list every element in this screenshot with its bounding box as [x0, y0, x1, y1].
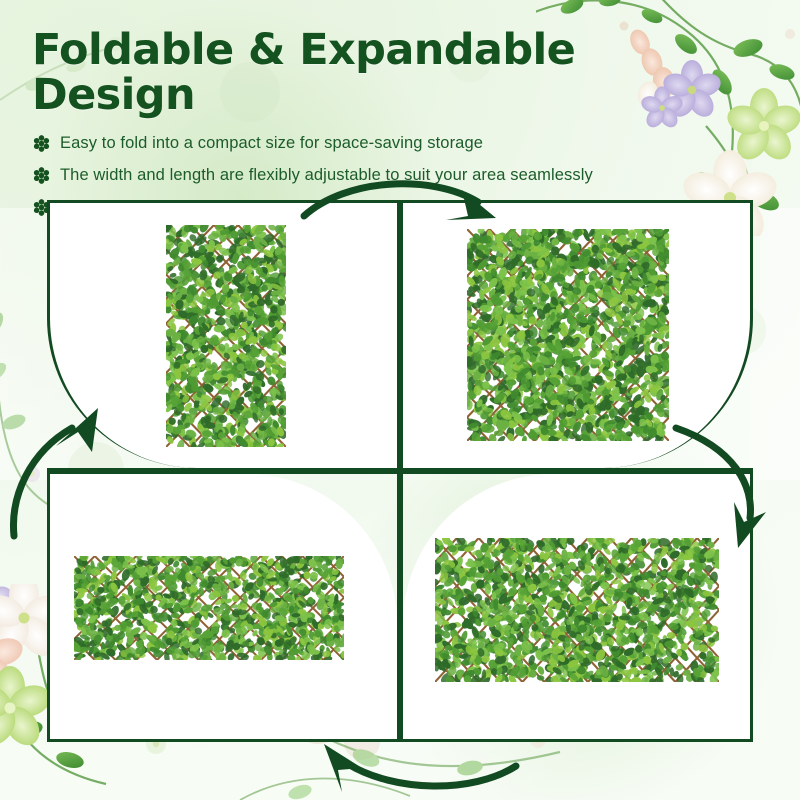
list-item-label: Easy to fold into a compact size for spa… [60, 134, 483, 153]
flower-dot-icon [32, 166, 51, 185]
product-image-square-panel [467, 229, 669, 441]
panel-bottom-left [47, 474, 397, 742]
panel-divider-horizontal [47, 468, 753, 474]
infographic-canvas: Foldable & Expandable Design Easy to fol… [0, 0, 800, 800]
panel-bottom-right [403, 474, 753, 742]
list-item-label: The width and length are flexibly adjust… [60, 166, 593, 185]
list-item: The width and length are flexibly adjust… [32, 166, 732, 185]
panel-grid [47, 200, 753, 742]
page-title: Foldable & Expandable Design [32, 28, 732, 118]
product-image-folded-vertical [166, 225, 286, 447]
list-item: Easy to fold into a compact size for spa… [32, 134, 732, 153]
product-image-expanded-wide [435, 538, 719, 682]
panel-top-left [47, 200, 397, 468]
flower-dot-icon [32, 134, 51, 153]
product-image-compressed-wide [74, 556, 344, 660]
panel-top-right [403, 200, 753, 468]
